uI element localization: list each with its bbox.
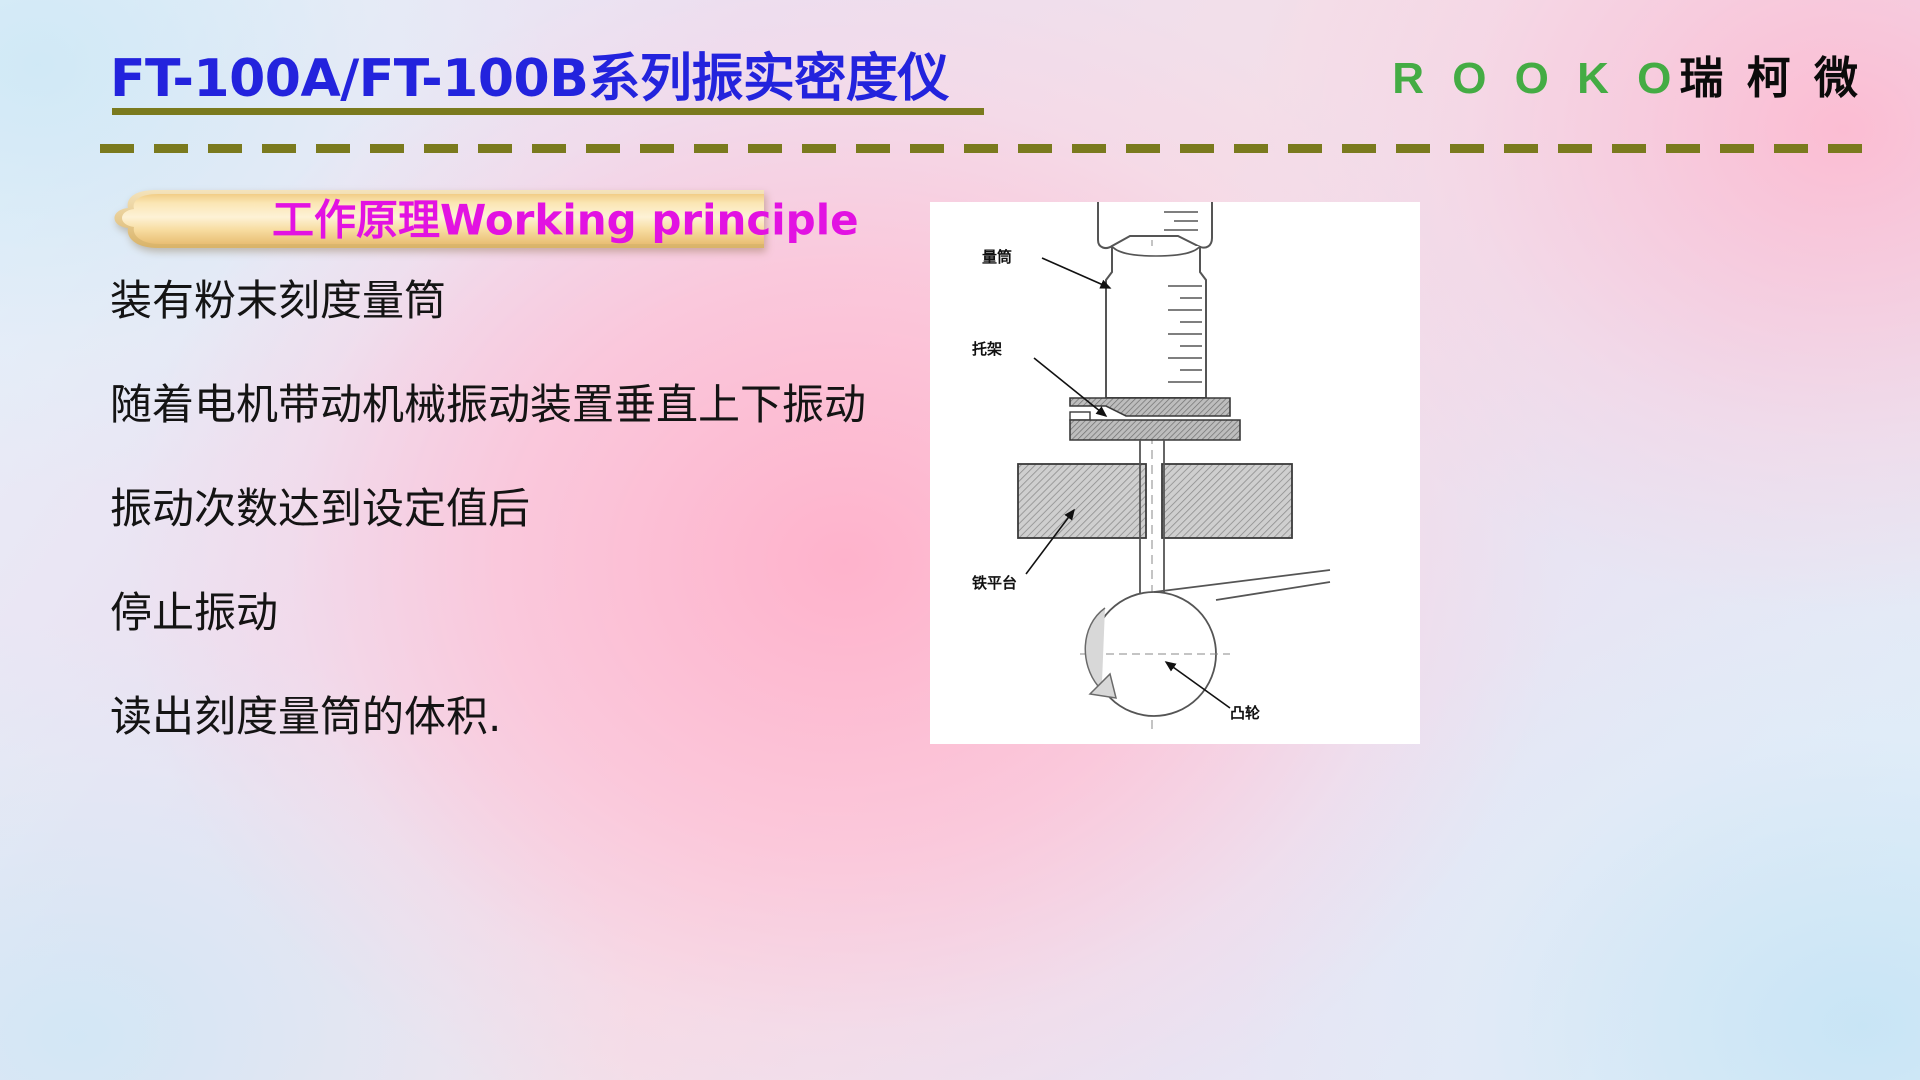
page-title: FT-100A/FT-100B系列振实密度仪	[110, 36, 949, 111]
title-underline	[112, 108, 984, 115]
logo-text-en: R O O K O	[1392, 54, 1679, 104]
diagram-svg: 量筒 托架 铁平台 凸轮	[930, 202, 1420, 744]
section-banner: 工作原理Working principle	[96, 182, 766, 254]
brand-logo: R O O K O 瑞 柯 微	[1392, 42, 1862, 106]
principle-line: 停止振动	[110, 592, 910, 634]
figure-label-cam: 凸轮	[1230, 704, 1260, 722]
principle-line: 振动次数达到设定值后	[110, 488, 910, 530]
principle-line: 随着电机带动机械振动装置垂直上下振动	[110, 384, 910, 426]
logo-text-cn: 瑞 柯 微	[1679, 42, 1862, 106]
slide-header: FT-100A/FT-100B系列振实密度仪 R O O K O 瑞 柯 微	[0, 0, 1920, 140]
principle-line: 读出刻度量筒的体积.	[110, 696, 910, 738]
header-dashed-divider	[100, 144, 1870, 153]
working-principle-diagram: 量筒 托架 铁平台 凸轮	[930, 202, 1420, 744]
figure-label-bracket: 托架	[972, 340, 1002, 358]
section-banner-label: 工作原理Working principle	[272, 186, 859, 247]
graduated-cylinder	[1106, 246, 1206, 398]
figure-label-cylinder: 量筒	[982, 248, 1012, 266]
figure-label-platform: 铁平台	[972, 574, 1017, 592]
principle-text-block: 装有粉末刻度量筒 随着电机带动机械振动装置垂直上下振动 振动次数达到设定值后 停…	[110, 280, 910, 800]
principle-line: 装有粉末刻度量筒	[110, 280, 910, 322]
